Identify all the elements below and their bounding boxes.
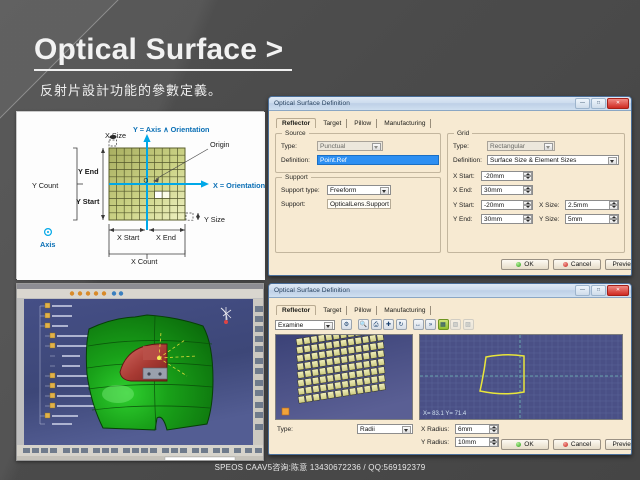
zoom-box-icon[interactable]: ⎙ bbox=[371, 319, 382, 330]
slide-canvas: Optical Surface > 反射片設計功能的參數定義。 bbox=[0, 0, 640, 480]
view-mode-combo[interactable]: Examine bbox=[275, 320, 335, 330]
cancel-label: Cancel bbox=[571, 441, 591, 448]
y-start-input[interactable]: -20mm bbox=[481, 200, 533, 210]
x-radius-input[interactable]: 6mm bbox=[455, 424, 499, 434]
pan-icon[interactable]: ✚ bbox=[383, 319, 394, 330]
optical-surface-definition-dialog-1[interactable]: Optical Surface Definition — □ ✕ Reflect… bbox=[268, 96, 632, 276]
grid-toggle-icon[interactable]: ▦ bbox=[438, 319, 449, 330]
grid-groupbox: Grid bbox=[447, 133, 625, 253]
y-start-label: Y Start: bbox=[453, 202, 475, 209]
cancel-button-dialog2[interactable]: Cancel bbox=[553, 439, 601, 450]
preview-label: Preview bbox=[612, 261, 632, 268]
tab-manufacturing[interactable]: Manufacturing bbox=[379, 119, 431, 128]
cancel-label: Cancel bbox=[571, 261, 591, 268]
x-start-value: -20mm bbox=[484, 173, 504, 180]
gear-icon[interactable]: ⚙ bbox=[341, 319, 352, 330]
minimize-icon[interactable]: — bbox=[575, 285, 590, 296]
title-underline bbox=[34, 69, 292, 71]
x-start-label: X Start: bbox=[453, 173, 475, 180]
x-end-spinner[interactable] bbox=[523, 186, 532, 195]
x-size-input[interactable]: 2.5mm bbox=[565, 200, 619, 210]
grid-type-label: Type: bbox=[453, 143, 469, 150]
dialog1-tabstrip[interactable]: Reflector Target Pillow Manufacturing bbox=[276, 116, 626, 128]
ok-led-icon bbox=[516, 262, 521, 267]
support-input[interactable]: OpticalLens.Support bbox=[327, 199, 391, 209]
x-size-value: 2.5mm bbox=[568, 202, 588, 209]
cancel-button-dialog1[interactable]: Cancel bbox=[553, 259, 601, 270]
label-x-end: X End bbox=[156, 233, 176, 242]
boundary-preview-svg bbox=[420, 335, 623, 420]
tab-pillow[interactable]: Pillow bbox=[349, 306, 377, 315]
label-origin-mark: O bbox=[144, 179, 149, 185]
label-x-size: X Size bbox=[105, 131, 126, 140]
footer-credit: SPEOS CAAV5咨询:陈意 13430672236 / QQ:569192… bbox=[0, 462, 640, 473]
x-end-input[interactable]: 30mm bbox=[481, 185, 533, 195]
catia-viewport-svg bbox=[17, 284, 264, 461]
label-y-size: Y Size bbox=[204, 215, 225, 224]
dialog2-titlebar[interactable]: Optical Surface Definition — □ ✕ bbox=[269, 284, 631, 298]
source-definition-label: Definition: bbox=[281, 157, 310, 164]
x-start-input[interactable]: -20mm bbox=[481, 171, 533, 181]
magnifier-icon[interactable]: 🔍 bbox=[358, 319, 369, 330]
x-end-label: X End: bbox=[453, 187, 473, 194]
dialog2-title: Optical Surface Definition bbox=[274, 287, 575, 294]
dialog2-tabstrip[interactable]: Reflector Target Pillow Manufacturing bbox=[276, 303, 626, 315]
parameter-diagram-svg: X Size Y = Axis ∧ Orientation Origin O Y… bbox=[17, 112, 265, 280]
grid-definition-label: Definition: bbox=[453, 157, 482, 164]
grid-definition-value: Surface Size & Element Sizes bbox=[490, 157, 576, 164]
label-y-start: Y Start bbox=[76, 197, 100, 206]
viewer-toolbar[interactable]: ⚙ 🔍 ⎙ ✚ ↻ ↔ » ▦ ▧ ▨ bbox=[341, 319, 474, 330]
tab-target[interactable]: Target bbox=[318, 119, 347, 128]
x-radius-spinner[interactable] bbox=[489, 425, 498, 434]
minimize-icon[interactable]: — bbox=[575, 98, 590, 109]
label-y-end: Y End bbox=[78, 167, 99, 176]
support-type-combo[interactable]: Freeform bbox=[327, 185, 391, 195]
pillow-preview-view[interactable] bbox=[275, 334, 413, 420]
shade-icon[interactable]: ▧ bbox=[450, 319, 461, 330]
label-x-start: X Start bbox=[117, 233, 139, 242]
pillow-type-label: Type: bbox=[277, 426, 293, 433]
grid-type-value: Rectangular bbox=[490, 143, 525, 150]
source-type-value: Punctual bbox=[320, 143, 345, 150]
label-x-count: X Count bbox=[131, 257, 157, 266]
dialog2-window-buttons[interactable]: — □ ✕ bbox=[575, 285, 629, 296]
rotate-icon[interactable]: ↻ bbox=[396, 319, 407, 330]
grid-type-combo[interactable]: Rectangular bbox=[487, 141, 555, 151]
y-size-spinner[interactable] bbox=[609, 215, 618, 224]
y-end-spinner[interactable] bbox=[523, 215, 532, 224]
tab-manufacturing[interactable]: Manufacturing bbox=[379, 306, 431, 315]
tab-reflector[interactable]: Reflector bbox=[276, 118, 316, 128]
x-end-value: 30mm bbox=[484, 187, 502, 194]
y-radius-input[interactable]: 10mm bbox=[455, 437, 499, 447]
optical-surface-definition-dialog-2[interactable]: Optical Surface Definition — □ ✕ Reflect… bbox=[268, 283, 632, 455]
y-radius-label: Y Radius: bbox=[421, 439, 449, 446]
source-legend: Source bbox=[282, 130, 309, 137]
support-type-label: Support type: bbox=[281, 187, 320, 194]
grid-definition-combo[interactable]: Surface Size & Element Sizes bbox=[487, 155, 619, 165]
ok-label: OK bbox=[524, 441, 533, 448]
close-icon[interactable]: ✕ bbox=[607, 98, 629, 109]
grid-legend: Grid bbox=[454, 130, 472, 137]
ok-button-dialog1[interactable]: OK bbox=[501, 259, 549, 270]
label-origin: Origin bbox=[210, 140, 229, 149]
dialog1-window-buttons[interactable]: — □ ✕ bbox=[575, 98, 629, 109]
preview-button-dialog2[interactable]: Preview bbox=[605, 439, 632, 450]
label-axis: Axis bbox=[40, 240, 55, 249]
tab-reflector[interactable]: Reflector bbox=[276, 305, 316, 315]
page-title: Optical Surface > bbox=[34, 34, 324, 66]
source-definition-input[interactable]: Point.Ref bbox=[317, 155, 439, 165]
x-size-spinner[interactable] bbox=[609, 201, 618, 210]
support-legend: Support bbox=[282, 174, 311, 181]
y-radius-value: 10mm bbox=[458, 439, 476, 446]
y-radius-spinner[interactable] bbox=[489, 438, 498, 447]
y-size-value: 5mm bbox=[568, 216, 582, 223]
cancel-led-icon bbox=[563, 442, 568, 447]
preview-button-dialog1[interactable]: Preview bbox=[605, 259, 632, 270]
maximize-icon[interactable]: □ bbox=[591, 285, 606, 296]
y-start-value: -20mm bbox=[484, 202, 504, 209]
y-end-label: Y End: bbox=[453, 216, 472, 223]
view-mode-value: Examine bbox=[278, 322, 303, 329]
parameter-diagram-image: X Size Y = Axis ∧ Orientation Origin O Y… bbox=[16, 111, 264, 279]
x-radius-value: 6mm bbox=[458, 426, 472, 433]
pillow-preview-svg bbox=[276, 335, 413, 420]
ok-label: OK bbox=[524, 261, 533, 268]
ok-led-icon bbox=[516, 442, 521, 447]
y-size-input[interactable]: 5mm bbox=[565, 214, 619, 224]
source-groupbox: Source bbox=[275, 133, 441, 173]
dialog1-titlebar[interactable]: Optical Surface Definition — □ ✕ bbox=[269, 97, 631, 111]
measure-icon[interactable]: ↔ bbox=[413, 319, 424, 330]
source-type-combo[interactable]: Punctual bbox=[317, 141, 383, 151]
y-start-spinner[interactable] bbox=[523, 201, 532, 210]
fit-icon[interactable]: » bbox=[425, 319, 436, 330]
tab-pillow[interactable]: Pillow bbox=[349, 119, 377, 128]
x-size-label: X Size: bbox=[539, 202, 560, 209]
label-y-count: Y Count bbox=[32, 181, 58, 190]
coordinate-readout: X= 83.1 Y= 71.4 bbox=[423, 411, 466, 417]
pillow-type-value: Radii bbox=[360, 426, 375, 433]
title-block: Optical Surface > bbox=[34, 34, 324, 71]
dialog1-title: Optical Surface Definition bbox=[274, 100, 575, 107]
ok-button-dialog2[interactable]: OK bbox=[501, 439, 549, 450]
y-end-value: 30mm bbox=[484, 216, 502, 223]
cancel-led-icon bbox=[563, 262, 568, 267]
slide-subtitle: 反射片設計功能的參數定義。 bbox=[40, 80, 222, 99]
pillow-type-combo[interactable]: Radii bbox=[357, 424, 413, 434]
close-icon[interactable]: ✕ bbox=[607, 285, 629, 296]
tab-target[interactable]: Target bbox=[318, 306, 347, 315]
preview-label: Preview bbox=[612, 441, 632, 448]
x-start-spinner[interactable] bbox=[523, 172, 532, 181]
maximize-icon[interactable]: □ bbox=[591, 98, 606, 109]
label-x-orientation: X = Orientation bbox=[213, 181, 265, 190]
source-type-label: Type: bbox=[281, 143, 297, 150]
catia-3d-viewport[interactable] bbox=[16, 283, 264, 461]
boundary-preview-view[interactable]: X= 83.1 Y= 71.4 bbox=[419, 334, 623, 420]
support-type-value: Freeform bbox=[330, 187, 356, 194]
x-radius-label: X Radius: bbox=[421, 426, 449, 433]
wire-icon[interactable]: ▨ bbox=[463, 319, 474, 330]
support-label: Support: bbox=[281, 201, 306, 208]
y-end-input[interactable]: 30mm bbox=[481, 214, 533, 224]
label-y-axis: Y = Axis ∧ Orientation bbox=[133, 125, 210, 134]
y-size-label: Y Size: bbox=[539, 216, 559, 223]
